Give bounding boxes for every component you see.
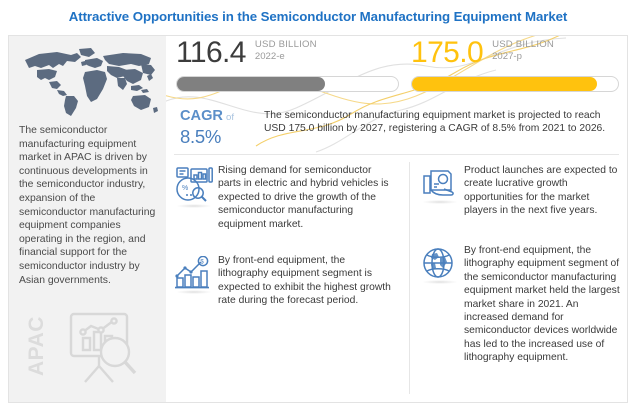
insight-card-1: % Rising demand for semiconductor parts … <box>174 164 402 231</box>
svg-text:$: $ <box>200 260 204 266</box>
cagr-of-label: of <box>226 112 234 123</box>
insight-card-3: $ By front-end equipment, the lithograph… <box>174 254 402 308</box>
insight-card-2: Product launches are expected to create … <box>420 164 620 218</box>
stat-2027: 175.0 USD BILLION 2027-p <box>411 36 621 92</box>
insight-card-2-text: Product launches are expected to create … <box>464 164 620 218</box>
stat-unit-2022: USD BILLION 2022-e <box>255 39 317 63</box>
horizontal-divider <box>174 154 619 155</box>
progress-bar-fill-2027 <box>412 77 597 91</box>
market-analysis-chart-icon: % <box>174 164 218 231</box>
svg-text:%: % <box>182 185 188 192</box>
infographic-root: Attractive Opportunities in the Semicond… <box>0 0 636 412</box>
content-board: The semiconductor manufacturing equipmen… <box>8 35 628 403</box>
growth-bar-chart-icon: $ <box>174 254 218 308</box>
stat-2022: 116.4 USD BILLION 2022-e <box>176 36 401 92</box>
stat-unit-line1-2022: USD BILLION <box>255 39 317 51</box>
cagr-description: The semiconductor manufacturing equipmen… <box>264 109 619 135</box>
stat-unit-2027: USD BILLION 2027-p <box>492 39 554 63</box>
world-map-icon <box>19 44 159 118</box>
left-region-panel: The semiconductor manufacturing equipmen… <box>9 36 166 402</box>
product-launch-hand-icon <box>420 164 464 218</box>
progress-bar-2022 <box>176 76 399 92</box>
insight-card-4: By front-end equipment, the lithography … <box>420 244 620 365</box>
cagr-label: CAGR <box>180 108 223 124</box>
insight-card-3-text: By front-end equipment, the lithography … <box>218 254 396 308</box>
cagr-row: CAGRof 8.5% The semiconductor manufactur… <box>176 108 621 152</box>
stat-unit-line2-2022: 2022-e <box>255 51 317 63</box>
stat-unit-line1-2027: USD BILLION <box>492 39 554 51</box>
region-description: The semiconductor manufacturing equipmen… <box>19 124 159 287</box>
stat-value-2027: 175.0 <box>411 36 483 70</box>
insight-card-1-text: Rising demand for semiconductor parts in… <box>218 164 396 231</box>
region-badge: APAC <box>15 304 165 400</box>
right-content-area: 116.4 USD BILLION 2022-e 175.0 <box>166 36 627 402</box>
cagr-block: CAGRof 8.5% <box>180 108 258 147</box>
insight-card-4-text: By front-end equipment, the lithography … <box>464 244 620 365</box>
progress-bar-fill-2022 <box>177 77 325 91</box>
cagr-value: 8.5% <box>180 126 258 147</box>
stat-value-2022: 116.4 <box>176 36 246 70</box>
stat-unit-line2-2027: 2027-p <box>492 51 554 63</box>
globe-icon <box>420 244 464 365</box>
vertical-divider <box>409 162 410 394</box>
stats-row: 116.4 USD BILLION 2022-e 175.0 <box>166 36 627 101</box>
apac-label: APAC <box>25 313 49 379</box>
title-bar: Attractive Opportunities in the Semicond… <box>0 0 636 33</box>
presentation-chart-magnifier-icon <box>57 306 143 397</box>
page-title: Attractive Opportunities in the Semicond… <box>69 9 567 24</box>
cagr-label-line: CAGRof <box>180 108 258 126</box>
progress-bar-2027 <box>411 76 619 92</box>
